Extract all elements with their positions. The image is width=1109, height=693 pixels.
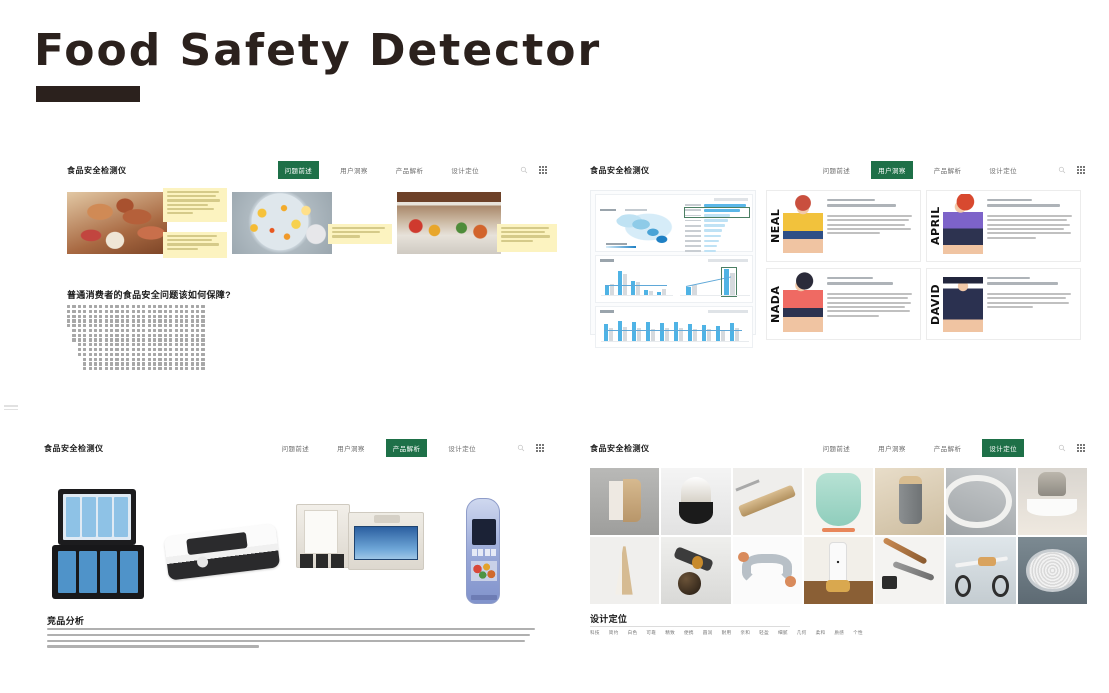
supermarket-photo	[397, 192, 501, 254]
persona-quote	[987, 293, 1076, 308]
text-column	[180, 305, 183, 372]
bar-group	[631, 271, 641, 295]
nav-tools	[1058, 444, 1085, 452]
dashboard-monthly-card	[595, 306, 753, 348]
text-column	[126, 305, 129, 372]
man-dark-coat-hat-illustration	[943, 272, 983, 336]
persona-card-neal[interactable]: NEAL	[766, 190, 921, 262]
nav-item-problem[interactable]: 问题前述	[816, 161, 858, 179]
ranking-row	[685, 235, 749, 238]
bar	[674, 322, 678, 341]
text-column	[169, 305, 172, 372]
product-photo-handheld-colorimeter[interactable]	[162, 516, 284, 586]
presentation-board: Food Safety Detector 食品安全检测仪 问题前述 用户洞察 产…	[0, 0, 1109, 693]
nav-item-insight[interactable]: 用户洞察	[871, 439, 913, 457]
search-icon[interactable]	[1058, 166, 1066, 174]
text-column	[201, 305, 204, 372]
card-caption-sticky	[497, 224, 557, 252]
positioning-tag[interactable]: 圆润	[703, 630, 713, 636]
bar	[688, 324, 692, 341]
poster-title-block: Food Safety Detector	[34, 28, 601, 102]
product-photo-benchtop-analyzer[interactable]	[290, 498, 430, 603]
text-column	[158, 305, 161, 372]
moodboard-tile[interactable]	[733, 537, 802, 604]
main-nav: 问题前述 用户洞察 产品解析 设计定位	[816, 439, 1024, 457]
positioning-tag[interactable]: 柔和	[816, 630, 826, 636]
section-heading-competitive-analysis: 竞品分析	[47, 614, 84, 627]
persona-card-april[interactable]: APRIL	[926, 190, 1081, 262]
persona-details	[987, 199, 1076, 241]
persona-details	[987, 277, 1076, 310]
highlight-box	[684, 207, 750, 218]
competitive-analysis-body	[47, 628, 540, 651]
nav-item-positioning[interactable]: 设计定位	[982, 439, 1024, 457]
moodboard-tile[interactable]	[1018, 537, 1087, 604]
text-column	[175, 305, 178, 372]
section-heading-design-positioning: 设计定位	[590, 612, 627, 625]
card-caption-sticky	[328, 224, 392, 244]
nav-tools	[520, 166, 547, 174]
problem-card-row	[67, 188, 557, 266]
cured-meats-photo	[67, 192, 167, 254]
bar	[618, 321, 622, 341]
moodboard-tile[interactable]	[946, 537, 1015, 604]
ranking-row	[685, 245, 749, 248]
map-legend	[606, 243, 636, 248]
bar-group	[618, 271, 628, 295]
moodboard-tile[interactable]	[804, 468, 873, 535]
ranking-row	[685, 229, 749, 232]
moodboard-tile[interactable]	[661, 537, 730, 604]
positioning-tag[interactable]: 几何	[797, 630, 807, 636]
positioning-tag[interactable]: 耐用	[722, 630, 732, 636]
section-heading-problem: 普通消费者的食品安全问题该如何保障?	[67, 288, 231, 301]
text-column	[72, 305, 75, 372]
moodboard-tile[interactable]	[946, 468, 1015, 535]
text-column	[110, 305, 113, 372]
nav-item-product[interactable]: 产品解析	[386, 439, 428, 457]
positioning-tag-row: 科技简约白色可靠精致便携圆润耐用亲和轻盈细腻几何柔和质感个性	[590, 630, 1070, 636]
problem-card[interactable]	[232, 188, 392, 266]
heading-divider	[590, 626, 790, 627]
grid-menu-icon[interactable]	[1077, 166, 1085, 174]
panel-problem-navbar: 食品安全检测仪 问题前述 用户洞察 产品解析 设计定位	[67, 158, 547, 182]
nav-item-positioning[interactable]: 设计定位	[982, 161, 1024, 179]
text-column	[132, 305, 135, 372]
nav-item-insight[interactable]: 用户洞察	[333, 161, 375, 179]
text-column	[196, 305, 199, 372]
nav-item-insight[interactable]: 用户洞察	[871, 161, 913, 179]
moodboard-tile[interactable]	[733, 468, 802, 535]
card-note-sticky	[163, 232, 227, 258]
positioning-tag[interactable]: 轻盈	[759, 630, 769, 636]
grid-menu-icon[interactable]	[536, 444, 544, 452]
positioning-tag[interactable]: 可靠	[646, 630, 656, 636]
bar	[716, 326, 720, 341]
problem-card[interactable]	[397, 188, 557, 266]
panel-problem: 食品安全检测仪 问题前述 用户洞察 产品解析 设计定位	[22, 150, 550, 390]
text-column	[94, 305, 97, 372]
bar-group	[686, 269, 698, 295]
positioning-tag[interactable]: 质感	[834, 630, 844, 636]
text-column	[89, 305, 92, 372]
persona-card-david[interactable]: DAVID	[926, 268, 1081, 340]
positioning-tag[interactable]: 科技	[590, 630, 600, 636]
bar-group	[657, 271, 667, 295]
card-caption-sticky	[163, 188, 227, 222]
positioning-tag[interactable]: 亲和	[740, 630, 750, 636]
text-column	[185, 305, 188, 372]
persona-details	[827, 277, 916, 319]
positioning-tag[interactable]: 精致	[665, 630, 675, 636]
positioning-tag[interactable]: 个性	[853, 630, 863, 636]
title-underline-bar	[36, 86, 140, 102]
trend-line	[605, 285, 667, 286]
moodboard-tile[interactable]	[875, 468, 944, 535]
nav-item-problem[interactable]: 问题前述	[275, 439, 317, 457]
decorative-marks	[4, 405, 18, 415]
panel-product: 食品安全检测仪 问题前述 用户洞察 产品解析 设计定位	[22, 428, 550, 673]
text-column	[121, 305, 124, 372]
bar	[604, 324, 608, 341]
text-column	[115, 305, 118, 372]
text-column	[105, 305, 108, 372]
ranking-row	[685, 240, 749, 243]
grid-menu-icon[interactable]	[539, 166, 547, 174]
search-icon[interactable]	[517, 444, 525, 452]
text-column	[67, 305, 70, 372]
main-nav: 问题前述 用户洞察 产品解析 设计定位	[278, 161, 486, 179]
search-icon[interactable]	[1058, 444, 1066, 452]
text-column	[153, 305, 156, 372]
persona-quote	[827, 293, 916, 317]
panel-insight: 食品安全检测仪 问题前述 用户洞察 产品解析 设计定位	[576, 150, 1096, 390]
axis-line	[680, 295, 750, 296]
bar	[632, 322, 636, 341]
bar-group	[644, 271, 654, 295]
persona-name: NADA	[769, 269, 782, 339]
highlight-box	[721, 267, 737, 297]
search-icon[interactable]	[520, 166, 528, 174]
panel-positioning: 食品安全检测仪 问题前述 用户洞察 产品解析 设计定位	[576, 428, 1096, 673]
petri-dish-photo	[232, 192, 332, 254]
positioning-tag[interactable]: 细腻	[778, 630, 788, 636]
trend-line	[604, 330, 742, 331]
monthly-bar-chart	[601, 319, 749, 345]
bar	[721, 330, 725, 341]
persona-card-nada[interactable]: NADA	[766, 268, 921, 340]
site-brand: 食品安全检测仪	[590, 165, 650, 176]
nav-item-product[interactable]: 产品解析	[927, 161, 969, 179]
text-column	[148, 305, 151, 372]
vertical-body-text	[67, 305, 205, 372]
panel-positioning-navbar: 食品安全检测仪 问题前述 用户洞察 产品解析 设计定位	[590, 436, 1085, 460]
nav-item-product[interactable]: 产品解析	[389, 161, 431, 179]
bar	[730, 323, 734, 341]
page-title: Food Safety Detector	[34, 28, 601, 74]
ranking-row	[685, 219, 749, 222]
text-column	[99, 305, 102, 372]
persona-name: DAVID	[929, 269, 942, 339]
nav-item-positioning[interactable]: 设计定位	[444, 161, 486, 179]
text-column	[137, 305, 140, 372]
moodboard-tile[interactable]	[661, 468, 730, 535]
text-column	[191, 305, 194, 372]
moodboard-tile[interactable]	[590, 468, 659, 535]
product-photo-portable-blue-detector[interactable]	[452, 496, 512, 608]
main-nav: 问题前述 用户洞察 产品解析 设计定位	[275, 439, 483, 457]
nav-tools	[517, 444, 544, 452]
nav-item-problem[interactable]: 问题前述	[278, 161, 320, 179]
moodboard-tile[interactable]	[590, 537, 659, 604]
moodboard-tile[interactable]	[1018, 468, 1087, 535]
persona-details	[827, 199, 916, 237]
positioning-tag[interactable]: 便携	[684, 630, 694, 636]
moodboard-tile[interactable]	[875, 537, 944, 604]
positioning-tag[interactable]: 白色	[628, 630, 638, 636]
main-nav: 问题前述 用户洞察 产品解析 设计定位	[816, 161, 1024, 179]
persona-quote	[827, 215, 916, 235]
nav-item-product[interactable]: 产品解析	[927, 439, 969, 457]
nav-item-positioning[interactable]: 设计定位	[441, 439, 483, 457]
dashboard-chart-card	[595, 255, 753, 303]
axis-line	[601, 341, 749, 342]
panel-insight-navbar: 食品安全检测仪 问题前述 用户洞察 产品解析 设计定位	[590, 158, 1085, 182]
panel-product-navbar: 食品安全检测仪 问题前述 用户洞察 产品解析 设计定位	[44, 436, 544, 460]
problem-card[interactable]	[67, 188, 227, 266]
woman-purple-top-groceries-illustration	[943, 194, 983, 258]
site-brand: 食品安全检测仪	[67, 165, 127, 176]
bar	[702, 325, 706, 341]
ranking-row	[685, 250, 749, 253]
text-column	[83, 305, 86, 372]
text-column	[142, 305, 145, 372]
food-safety-data-dashboard[interactable]	[590, 190, 756, 335]
product-photo-rugged-case[interactable]	[44, 483, 152, 608]
moodboard-tile[interactable]	[804, 537, 873, 604]
text-column	[164, 305, 167, 372]
axis-line	[601, 295, 673, 296]
grid-menu-icon[interactable]	[1077, 444, 1085, 452]
nav-tools	[1058, 166, 1085, 174]
bar	[660, 323, 664, 341]
persona-name: APRIL	[929, 191, 942, 261]
persona-quote	[987, 215, 1076, 239]
positioning-tag[interactable]: 简约	[609, 630, 619, 636]
bar	[646, 322, 650, 341]
moodboard-grid	[590, 468, 1087, 604]
bar-group	[605, 271, 615, 295]
nav-item-insight[interactable]: 用户洞察	[330, 439, 372, 457]
site-brand: 食品安全检测仪	[44, 443, 104, 454]
persona-name: NEAL	[769, 191, 782, 261]
dashboard-map-card	[595, 194, 753, 252]
nav-item-problem[interactable]: 问题前述	[816, 439, 858, 457]
text-column	[78, 305, 81, 372]
woman-pink-top-standing-illustration	[783, 272, 823, 336]
man-yellow-hoodie-skateboard-illustration	[783, 194, 823, 258]
ranking-row	[685, 224, 749, 227]
site-brand: 食品安全检测仪	[590, 443, 650, 454]
trend-line-chart	[680, 269, 750, 299]
grouped-bar-chart	[601, 269, 673, 299]
